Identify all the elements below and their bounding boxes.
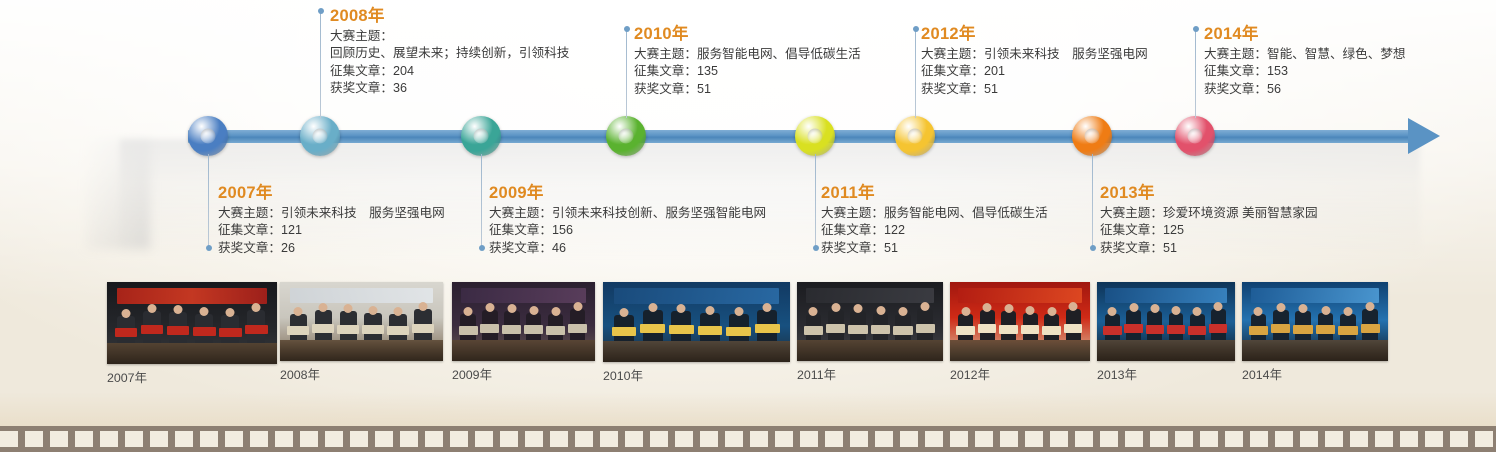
gallery-caption: 2009年: [452, 368, 595, 383]
photo-stage-banner: [806, 288, 935, 304]
gallery-caption: 2014年: [1242, 368, 1388, 383]
event-card-2007: 2007年大赛主题：引领未来科技 服务坚强电网征集文章：121获奖文章：26: [218, 184, 445, 257]
photo-certificate: [916, 324, 935, 333]
photo-stage-banner: [614, 288, 779, 304]
photo-person-head: [961, 307, 970, 316]
photo-certificate: [999, 325, 1018, 334]
event-year: 2013年: [1100, 184, 1318, 203]
event-awards: 获奖文章：36: [330, 80, 569, 97]
photo-person: [1340, 314, 1356, 341]
strip-glow: [0, 392, 1496, 426]
event-theme: 大赛主题：服务智能电网、倡导低碳生活: [634, 46, 861, 63]
photo-person-head: [1069, 302, 1078, 311]
connector-line: [1195, 29, 1196, 118]
photo-table: [797, 340, 943, 361]
photo-table: [280, 340, 443, 361]
photo-person-head: [1321, 306, 1330, 315]
photo-person: [195, 314, 213, 343]
photo-people-row: [803, 304, 937, 340]
event-awards: 获奖文章：26: [218, 240, 445, 257]
photo-person: [1044, 314, 1059, 341]
gallery-caption: 2012年: [950, 368, 1090, 383]
photo-certificate: [1167, 325, 1185, 334]
event-theme: 大赛主题：引领未来科技 服务坚强电网: [921, 46, 1148, 63]
photo-certificate: [726, 327, 751, 336]
photo-person: [1023, 313, 1038, 341]
gallery-photo[interactable]: [603, 282, 790, 362]
photo-certificate: [337, 325, 359, 334]
photo-person: [980, 310, 995, 341]
connector-line: [1092, 154, 1093, 248]
photo-person: [414, 309, 431, 340]
photo-person-head: [983, 303, 992, 312]
node-highlight: [1188, 129, 1203, 144]
photo-person: [315, 310, 332, 341]
photo-person: [1273, 310, 1289, 341]
photo-table: [603, 341, 790, 362]
gallery-item[interactable]: 2009年: [452, 282, 595, 383]
gallery-photo[interactable]: [1242, 282, 1388, 361]
event-year: 2010年: [634, 25, 861, 44]
photo-certificate: [848, 325, 867, 334]
photo-certificate: [1316, 325, 1335, 334]
photo-person-head: [854, 304, 863, 313]
photo-certificate: [1293, 325, 1312, 334]
photo-person: [548, 314, 563, 341]
photo-person: [1190, 314, 1205, 341]
timeline-node-2013[interactable]: [1072, 116, 1112, 156]
photo-people-row: [610, 304, 782, 341]
gallery-photo[interactable]: [1097, 282, 1235, 361]
event-awards: 获奖文章：51: [634, 81, 861, 98]
connector-dot: [479, 245, 485, 251]
photo-person-head: [148, 304, 157, 313]
node-highlight: [201, 129, 216, 144]
photo-person-head: [1026, 306, 1035, 315]
photo-person-head: [1150, 304, 1159, 313]
event-awards: 获奖文章：56: [1204, 81, 1406, 98]
event-submissions: 征集文章：156: [489, 222, 766, 239]
photo-certificate: [1103, 326, 1121, 335]
node-highlight: [474, 129, 489, 144]
photo-certificate: [167, 326, 190, 335]
photo-person: [850, 311, 866, 340]
photo-certificate: [956, 326, 975, 335]
photo-person-head: [1254, 307, 1263, 316]
photo-person: [1318, 313, 1334, 341]
connector-line: [320, 11, 321, 118]
timeline-node-2008[interactable]: [300, 116, 340, 156]
photo-certificate: [1271, 324, 1290, 333]
photo-person: [614, 315, 634, 341]
photo-person: [1001, 311, 1016, 340]
photo-person: [1066, 309, 1081, 340]
photo-person: [169, 312, 187, 343]
photo-table: [107, 343, 277, 364]
photo-person: [504, 311, 519, 340]
photo-person: [895, 314, 911, 341]
photo-certificate: [669, 325, 694, 334]
photo-person: [729, 314, 749, 341]
timeline-arrow-icon: [1408, 118, 1440, 154]
film-strip-border: [0, 426, 1496, 452]
photo-person-head: [648, 303, 657, 312]
photo-stage-banner: [290, 288, 433, 304]
photo-certificate: [871, 325, 890, 334]
photo-certificate: [245, 325, 268, 334]
connector-dot: [1193, 26, 1199, 32]
gallery-caption: 2010年: [603, 369, 790, 384]
photo-person-head: [394, 307, 403, 316]
event-card-2008: 2008年大赛主题：回顾历史、展望未来；持续创新，引领科技征集文章：204获奖文…: [330, 7, 569, 98]
photo-person-head: [200, 307, 209, 316]
photo-person-head: [921, 302, 930, 311]
photo-person-head: [1108, 307, 1117, 316]
photo-certificate: [1021, 325, 1040, 334]
photo-certificate: [826, 324, 845, 333]
connector-line: [626, 29, 627, 118]
timeline-node-2012[interactable]: [895, 116, 935, 156]
connector-line: [208, 154, 209, 248]
photo-person: [958, 314, 973, 340]
photo-certificate: [755, 324, 780, 333]
photo-certificate: [804, 326, 823, 335]
photo-person-head: [1343, 307, 1352, 316]
event-year: 2012年: [921, 25, 1148, 44]
photo-person: [1211, 309, 1226, 340]
node-highlight: [619, 129, 634, 144]
photo-person: [143, 311, 161, 343]
photo-certificate: [362, 325, 384, 334]
photo-people-row: [287, 304, 437, 340]
photo-person-head: [344, 304, 353, 313]
photo-person-head: [831, 303, 840, 312]
connector-line: [481, 154, 482, 248]
event-awards: 获奖文章：51: [1100, 240, 1318, 257]
photo-stage-banner: [117, 288, 267, 304]
photo-certificate: [1064, 324, 1083, 333]
photo-person: [671, 311, 691, 341]
event-theme: 大赛主题：服务智能电网、倡导低碳生活: [821, 205, 1048, 222]
event-submissions: 征集文章：122: [821, 222, 1048, 239]
gallery-photo[interactable]: [107, 282, 277, 364]
photo-certificate: [287, 326, 309, 335]
photo-certificate: [1209, 324, 1227, 333]
film-sprockets: [0, 431, 1496, 447]
photo-person-head: [319, 303, 328, 312]
photo-person-head: [369, 306, 378, 315]
photo-person: [460, 314, 475, 340]
photo-certificate: [568, 324, 587, 333]
photo-person: [757, 310, 777, 342]
photo-certificate: [193, 327, 216, 336]
event-year: 2009年: [489, 184, 766, 203]
photo-stage-banner: [958, 288, 1081, 304]
timeline-node-2014[interactable]: [1175, 116, 1215, 156]
photo-certificate: [1249, 326, 1268, 335]
photo-person-head: [485, 303, 494, 312]
photo-person: [917, 309, 933, 340]
photo-certificate: [546, 326, 565, 335]
photo-person-head: [226, 308, 235, 317]
photo-certificate: [312, 324, 334, 333]
photo-table: [1242, 340, 1388, 361]
photo-certificate: [1124, 324, 1142, 333]
photo-table: [1097, 340, 1235, 361]
event-card-2009: 2009年大赛主题：引领未来科技创新、服务坚强智能电网征集文章：156获奖文章：…: [489, 184, 766, 257]
photo-person-head: [1214, 302, 1223, 311]
photo-person-head: [1193, 307, 1202, 316]
connector-dot: [318, 8, 324, 14]
photo-certificate: [459, 326, 478, 335]
photo-certificate: [893, 326, 912, 335]
connector-line: [915, 29, 916, 118]
event-theme: 大赛主题：珍爱环境资源 美丽智慧家园: [1100, 205, 1318, 222]
photo-person-head: [1047, 307, 1056, 316]
event-submissions: 征集文章：153: [1204, 63, 1406, 80]
photo-person: [526, 313, 541, 341]
photo-person: [290, 314, 307, 340]
photo-person: [1295, 311, 1311, 340]
photo-certificate: [219, 328, 242, 337]
photo-certificate: [978, 324, 997, 333]
photo-person-head: [734, 307, 743, 316]
gallery-caption: 2013年: [1097, 368, 1235, 383]
photo-person-head: [1366, 302, 1375, 311]
photo-person-head: [419, 302, 428, 311]
photo-person: [1105, 314, 1120, 340]
photo-gallery: 2007年2008年2009年2010年2011年2012年2013年2014年: [0, 282, 1496, 392]
node-highlight: [1085, 129, 1100, 144]
gallery-caption: 2008年: [280, 368, 443, 383]
gallery-caption: 2007年: [107, 371, 277, 386]
photo-table: [452, 340, 595, 361]
photo-person-head: [294, 307, 303, 316]
event-submissions: 征集文章：135: [634, 63, 861, 80]
photo-person-head: [876, 306, 885, 315]
photo-person-head: [1299, 304, 1308, 313]
event-submissions: 征集文章：125: [1100, 222, 1318, 239]
photo-person-head: [122, 309, 131, 318]
photo-person: [700, 313, 720, 341]
gallery-caption: 2011年: [797, 368, 943, 383]
photo-certificate: [1146, 325, 1164, 334]
connector-dot: [913, 26, 919, 32]
photo-person-head: [1004, 304, 1013, 313]
event-card-2014: 2014年大赛主题：智能、智慧、绿色、梦想征集文章：153获奖文章：56: [1204, 25, 1406, 98]
event-year: 2008年: [330, 7, 569, 26]
photo-person: [570, 309, 585, 340]
photo-person-head: [619, 308, 628, 317]
event-awards: 获奖文章：51: [921, 81, 1148, 98]
photo-person-head: [1171, 306, 1180, 315]
photo-certificate: [387, 326, 409, 335]
photo-certificate: [141, 325, 164, 334]
photo-person: [1169, 313, 1184, 341]
event-year: 2007年: [218, 184, 445, 203]
photo-person-head: [573, 302, 582, 311]
photo-person-head: [809, 307, 818, 316]
timeline-infographic: 2007年大赛主题：引领未来科技 服务坚强电网征集文章：121获奖文章：2620…: [0, 0, 1496, 452]
photo-person-head: [464, 307, 473, 316]
photo-person: [389, 314, 406, 341]
event-card-2011: 2011年大赛主题：服务智能电网、倡导低碳生活征集文章：122获奖文章：51: [821, 184, 1048, 257]
photo-person-head: [1276, 303, 1285, 312]
photo-certificate: [1042, 326, 1061, 335]
timeline-node-2010[interactable]: [606, 116, 646, 156]
photo-certificate: [502, 325, 521, 334]
event-card-2012: 2012年大赛主题：引领未来科技 服务坚强电网征集文章：201获奖文章：51: [921, 25, 1148, 98]
photo-person: [117, 316, 135, 343]
photo-person: [1251, 314, 1267, 340]
photo-person-head: [677, 304, 686, 313]
photo-certificate: [524, 325, 543, 334]
photo-person-head: [252, 303, 261, 312]
event-year: 2011年: [821, 184, 1048, 203]
photo-people-row: [1248, 304, 1382, 340]
photo-person-head: [551, 307, 560, 316]
photo-person: [340, 311, 357, 340]
photo-person-head: [898, 307, 907, 316]
photo-people-row: [458, 304, 590, 340]
photo-person: [247, 310, 265, 342]
event-theme: 大赛主题：引领未来科技 服务坚强电网: [218, 205, 445, 222]
photo-people-row: [1103, 304, 1230, 340]
photo-certificate: [412, 324, 434, 333]
axis-shadow-corner: [86, 139, 150, 249]
gallery-item[interactable]: 2014年: [1242, 282, 1388, 383]
photo-person: [873, 313, 889, 341]
photo-certificate: [698, 326, 723, 335]
event-card-2010: 2010年大赛主题：服务智能电网、倡导低碳生活征集文章：135获奖文章：51: [634, 25, 861, 98]
photo-certificate: [1338, 326, 1357, 335]
photo-person: [1147, 311, 1162, 340]
timeline-node-2007[interactable]: [188, 116, 228, 156]
photo-certificate: [640, 324, 665, 333]
photo-stage-banner: [461, 288, 587, 304]
photo-person-head: [1129, 303, 1138, 312]
photo-certificate: [480, 324, 499, 333]
connector-dot: [624, 26, 630, 32]
photo-person-head: [763, 303, 772, 312]
event-awards: 获奖文章：51: [821, 240, 1048, 257]
photo-table: [950, 340, 1090, 361]
photo-certificate: [115, 328, 138, 337]
timeline-node-2011[interactable]: [795, 116, 835, 156]
photo-person-head: [507, 304, 516, 313]
photo-person-head: [529, 306, 538, 315]
event-submissions: 征集文章：121: [218, 222, 445, 239]
photo-person: [828, 310, 844, 341]
photo-person: [643, 310, 663, 341]
connector-dot: [206, 245, 212, 251]
gallery-item[interactable]: 2010年: [603, 282, 790, 384]
event-theme-cont: 回顾历史、展望未来；持续创新，引领科技: [330, 45, 569, 62]
photo-person: [806, 314, 822, 340]
event-theme: 大赛主题：智能、智慧、绿色、梦想: [1204, 46, 1406, 63]
event-theme: 大赛主题：引领未来科技创新、服务坚强智能电网: [489, 205, 766, 222]
gallery-item[interactable]: 2008年: [280, 282, 443, 383]
photo-stage-banner: [1251, 288, 1380, 304]
connector-dot: [813, 245, 819, 251]
connector-line: [815, 154, 816, 248]
photo-stage-banner: [1105, 288, 1226, 304]
gallery-item[interactable]: 2012年: [950, 282, 1090, 383]
gallery-photo[interactable]: [950, 282, 1090, 361]
event-theme: 大赛主题：: [330, 28, 569, 45]
photo-person: [1126, 310, 1141, 341]
gallery-photo[interactable]: [797, 282, 943, 361]
event-card-2013: 2013年大赛主题：珍爱环境资源 美丽智慧家园征集文章：125获奖文章：51: [1100, 184, 1318, 257]
timeline-node-2009[interactable]: [461, 116, 501, 156]
photo-person: [221, 315, 239, 343]
event-awards: 获奖文章：46: [489, 240, 766, 257]
gallery-item[interactable]: 2013年: [1097, 282, 1235, 383]
photo-people-row: [956, 304, 1085, 340]
photo-person-head: [174, 305, 183, 314]
connector-dot: [1090, 245, 1096, 251]
photo-person: [482, 310, 497, 341]
photo-certificate: [1361, 324, 1380, 333]
photo-person: [364, 313, 381, 341]
node-highlight: [908, 129, 923, 144]
event-submissions: 征集文章：201: [921, 63, 1148, 80]
gallery-photo[interactable]: [452, 282, 595, 361]
photo-certificate: [612, 327, 637, 336]
photo-certificate: [1188, 326, 1206, 335]
photo-people-row: [114, 305, 270, 343]
event-submissions: 征集文章：204: [330, 63, 569, 80]
node-highlight: [313, 129, 328, 144]
node-highlight: [808, 129, 823, 144]
gallery-item[interactable]: 2007年: [107, 282, 277, 386]
event-year: 2014年: [1204, 25, 1406, 44]
gallery-photo[interactable]: [280, 282, 443, 361]
photo-person-head: [705, 306, 714, 315]
gallery-item[interactable]: 2011年: [797, 282, 943, 383]
photo-person: [1362, 309, 1378, 340]
